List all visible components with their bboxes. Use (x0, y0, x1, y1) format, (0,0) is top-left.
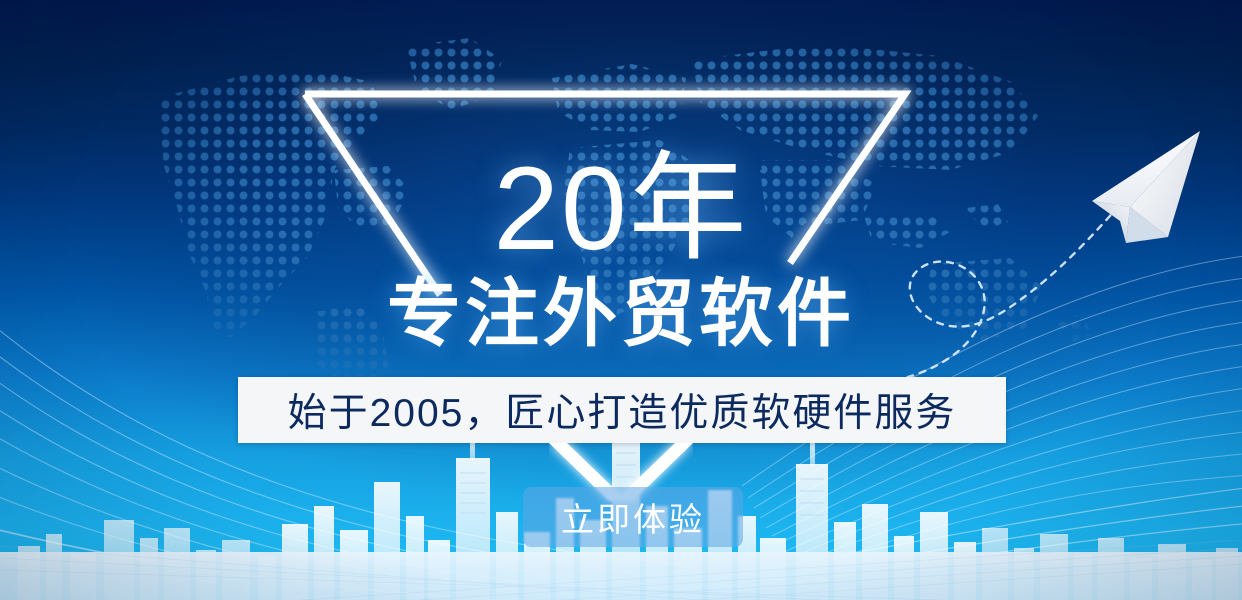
headline-year: 20年 (0, 150, 1242, 268)
subtitle-text: 始于2005，匠心打造优质软硬件服务 (288, 382, 957, 438)
subtitle-bar: 始于2005，匠心打造优质软硬件服务 (238, 377, 1006, 443)
headline-main: 专注外贸软件 (0, 277, 1242, 351)
cta-experience-button[interactable]: 立即体验 (523, 487, 743, 547)
promo-banner: 20年 专注外贸软件 始于2005，匠心打造优质软硬件服务 (0, 0, 1242, 600)
cta-button-label: 立即体验 (561, 493, 705, 541)
ground-band (0, 552, 1242, 600)
